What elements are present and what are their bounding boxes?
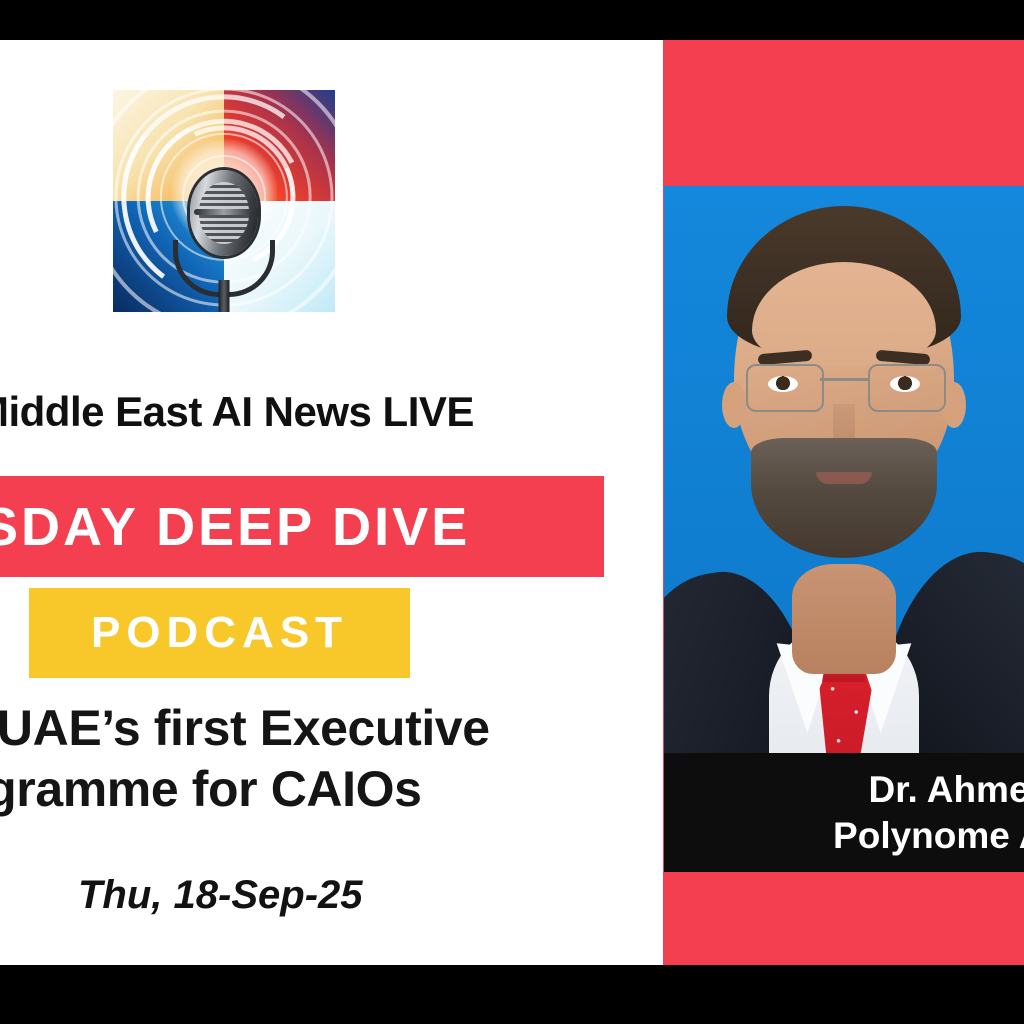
eyeglasses-bridge-icon (820, 378, 868, 381)
poster-canvas: Middle East AI News LIVE RSDAY DEEP DIVE… (0, 0, 1024, 1024)
episode-headline-line-1: e UAE’s first Executive (0, 698, 663, 759)
eyeglasses-lens-right-icon (868, 364, 946, 412)
portrait-hair (727, 206, 961, 356)
portrait-mouth (816, 472, 872, 484)
microphone-stem (219, 280, 230, 312)
portrait-ear-left (722, 382, 746, 428)
microphone-band (194, 209, 254, 215)
portrait-neck (792, 564, 896, 674)
guest-name: Dr. Ahmed Dal (868, 767, 1024, 812)
microphone-icon (190, 170, 258, 256)
portrait-beard (751, 438, 937, 558)
guest-panel: Dr. Ahmed Dal Polynome AI Ad (663, 40, 1024, 965)
show-title: Middle East AI News LIVE (0, 388, 663, 436)
guest-affiliation: Polynome AI Ad (833, 813, 1024, 858)
letterbox-bottom-bar (0, 965, 1024, 1024)
guest-name-bar: Dr. Ahmed Dal Polynome AI Ad (664, 753, 1024, 872)
left-content-panel: Middle East AI News LIVE RSDAY DEEP DIVE… (0, 40, 663, 965)
podcast-label: PODCAST (91, 608, 348, 658)
episode-headline-line-2: ogramme for CAIOs (0, 759, 663, 820)
guest-portrait-photo (664, 186, 1024, 794)
podcast-banner: PODCAST (29, 588, 410, 678)
episode-date: Thu, 18-Sep-25 (78, 873, 363, 918)
eyeglasses-lens-left-icon (746, 364, 824, 412)
letterbox-top-bar (0, 0, 1024, 40)
episode-headline: e UAE’s first Executive ogramme for CAIO… (0, 698, 663, 820)
thursday-deep-dive-banner: RSDAY DEEP DIVE (0, 476, 604, 577)
podcast-microphone-logo (113, 90, 335, 312)
thursday-deep-dive-label: RSDAY DEEP DIVE (0, 496, 470, 558)
